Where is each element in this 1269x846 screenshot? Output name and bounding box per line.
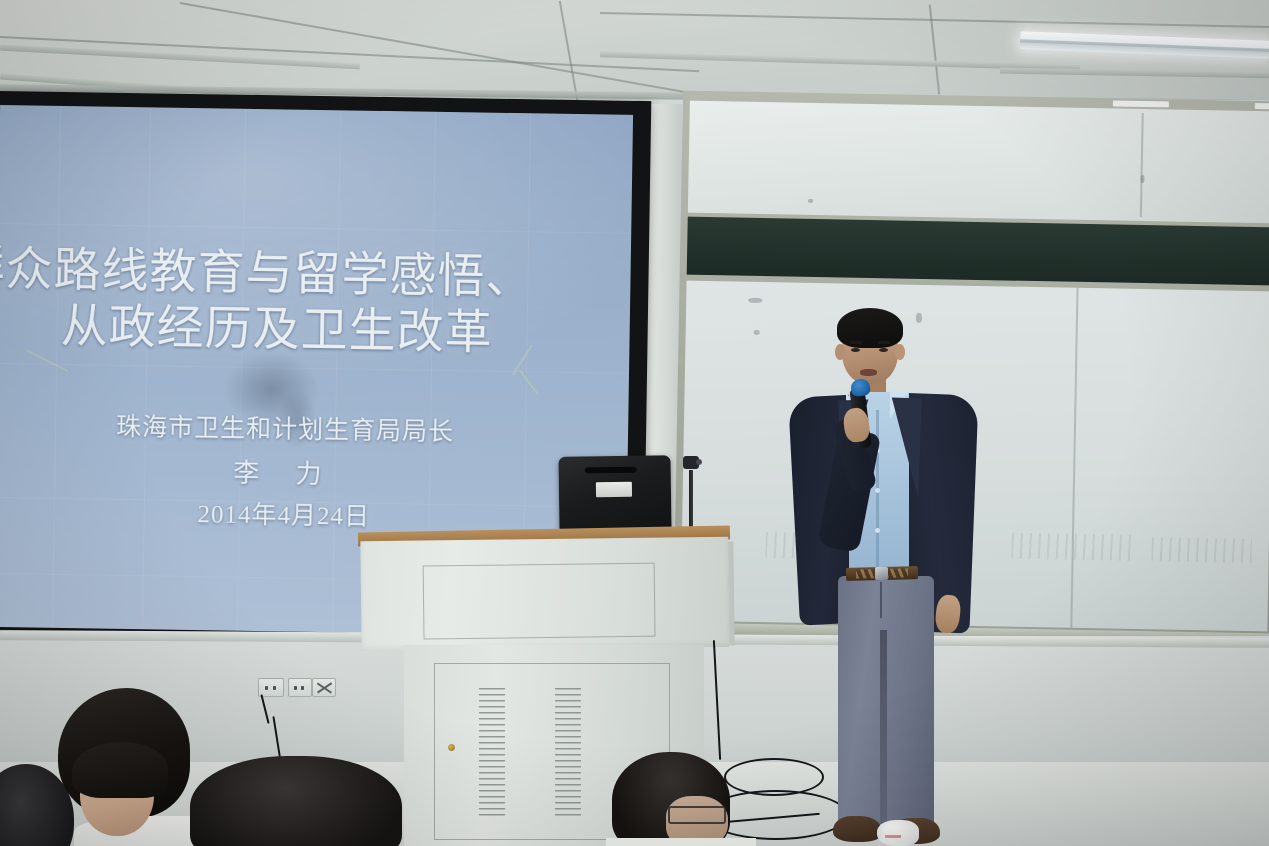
ear-left — [835, 344, 845, 360]
whiteboard-panel-seam — [1070, 288, 1078, 628]
eyeglasses-icon — [668, 806, 726, 824]
ceiling-rail — [0, 45, 360, 70]
presenter — [780, 300, 1010, 846]
outlet-hole — [265, 686, 268, 690]
podium-vent-slats — [555, 688, 581, 816]
white-plastic-bag — [877, 820, 919, 846]
eye-left — [851, 348, 860, 352]
x-marking-icon — [313, 679, 335, 696]
green-chalkboard-strip — [687, 217, 1269, 286]
screen-weave-line — [237, 109, 246, 631]
trouser-fly-seam — [880, 582, 882, 618]
plastic-bag-print — [885, 835, 901, 838]
slide-title-line-2: 从政经历及卫生改革 — [0, 300, 597, 360]
data-port-plate-crossed[interactable] — [312, 678, 336, 697]
outlet-hole — [273, 686, 276, 690]
faint-board-writing — [1152, 537, 1252, 563]
crt-monitor-rear — [558, 455, 671, 531]
hair — [837, 308, 903, 348]
screen-weave-line — [0, 223, 631, 234]
trouser-leg-separation — [880, 630, 887, 826]
student-dark-hair — [190, 756, 402, 846]
screen-scratch — [519, 370, 539, 395]
port-hole — [294, 686, 297, 690]
student-hair-front — [72, 742, 168, 798]
shirt-button — [875, 528, 880, 533]
screen-weave-line — [52, 106, 61, 628]
eyebrow-right — [878, 341, 890, 344]
whiteboard-marker[interactable] — [1113, 100, 1169, 107]
podium-front-panel — [423, 563, 656, 640]
slide-subtitle-organization: 珠海市卫生和计划生育局局长 — [0, 405, 575, 450]
slide-title-line-1: 群众路线教育与留学感悟、 — [0, 244, 598, 304]
whiteboard-mark — [754, 330, 760, 335]
shirt-button — [875, 488, 880, 493]
monitor-sticker-label — [596, 482, 632, 498]
monitor-vent-slot — [585, 467, 637, 474]
belt-buckle — [875, 567, 888, 580]
screen-weave-line — [0, 363, 629, 374]
podium-vent-slats — [479, 688, 505, 816]
classroom-photo-scene: 群众路线教育与留学感悟、 从政经历及卫生改革 珠海市卫生和计划生育局局长 李 力… — [0, 0, 1269, 846]
port-hole — [301, 686, 304, 690]
ceiling-seam — [600, 12, 1269, 28]
jacket-lapel-right — [888, 398, 921, 499]
student-shirt — [606, 838, 756, 846]
podium-lock[interactable] — [448, 744, 455, 751]
camera-lens-icon — [696, 459, 702, 465]
whiteboard-mark — [808, 199, 813, 203]
screen-weave-line — [332, 110, 341, 632]
eye-right — [879, 348, 888, 352]
whiteboard-mark — [1140, 175, 1144, 183]
ceiling-rail — [1000, 68, 1269, 79]
whiteboard-mark — [748, 298, 762, 303]
whiteboard-eraser[interactable] — [1255, 103, 1269, 110]
slide-subtitle-name: 李 力 — [0, 449, 575, 495]
whiteboard-panel-seam — [1140, 113, 1144, 217]
fluorescent-light-fixture — [1020, 31, 1269, 59]
mouth — [860, 369, 877, 376]
light-tube-divider — [1020, 39, 1269, 52]
faint-board-writing — [1012, 533, 1132, 561]
data-port-plate[interactable] — [288, 678, 312, 697]
ear-right — [895, 344, 905, 360]
whiteboard-upper-panel — [688, 101, 1269, 224]
screen-weave-line — [142, 107, 151, 629]
eyebrow-left — [850, 341, 862, 344]
shoe-left — [833, 816, 883, 842]
podium-upper-body — [360, 537, 729, 651]
